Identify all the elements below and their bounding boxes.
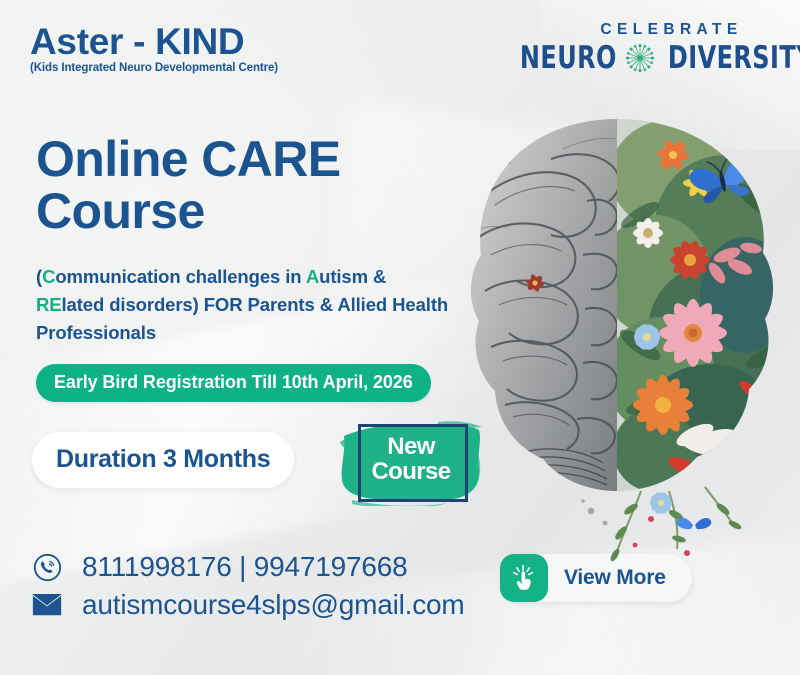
neurodiversity-wordmark: NEURO [564,43,774,74]
phone-number: 8111998176 | 9947197668 [82,553,408,581]
celebrate-label: CELEBRATE [569,22,774,38]
subheading-part-1: C [42,266,55,287]
half-brain-half-flowers-illustration [455,105,800,570]
brand-subtitle: (Kids Integrated Neuro Developmental Cen… [30,62,278,74]
subheading-part-6: lated disorders) FOR Parents & Allied He… [36,294,448,343]
duration-badge: Duration 3 Months [32,432,294,488]
poster-canvas: Aster - KIND (Kids Integrated Neuro Deve… [0,0,800,675]
subheading-part-2: ommunication challenges in [55,266,306,287]
contact-email-row[interactable]: autismcourse4slps@gmail.com [30,586,465,624]
diversity-label: DIVERSITY [668,43,800,74]
contact-phone-row[interactable]: 8111998176 | 9947197668 [30,548,465,586]
brand-lockup: Aster - KIND (Kids Integrated Neuro Deve… [30,22,278,74]
subheading-part-4: utism & [319,266,386,287]
flower-burst-icon [625,43,655,73]
headline-line-2: Course [36,186,476,238]
subheading-part-3: A [306,266,319,287]
celebrate-neurodiversity-logo: CELEBRATE NEURO [564,22,774,74]
envelope-icon [30,590,64,620]
brand-title: Aster - KIND [30,22,278,61]
subheading-part-5: RE [36,294,62,315]
early-bird-badge: Early Bird Registration Till 10th April,… [36,364,431,402]
headline: Online CARE Course [36,134,476,237]
subheading: (Communication challenges in Autism & RE… [36,263,456,347]
headline-line-1: Online CARE [36,134,476,186]
neuro-label: NEURO [520,43,617,74]
contact-block: 8111998176 | 9947197668 autismcourse4slp… [30,548,465,624]
phone-ring-icon [30,552,64,582]
email-address: autismcourse4slps@gmail.com [82,591,465,619]
